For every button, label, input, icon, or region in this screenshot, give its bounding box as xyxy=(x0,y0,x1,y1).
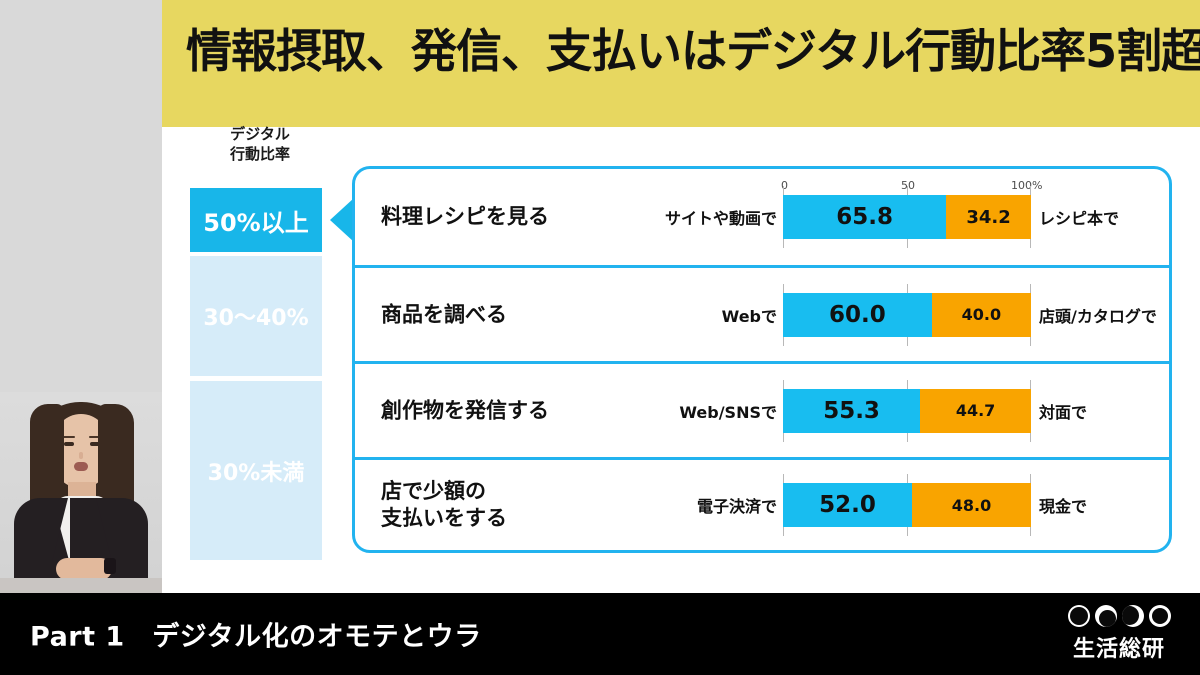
legend-block-50-and-above[interactable]: 50%以上 xyxy=(190,188,322,252)
bar-wrapper: 55.3 44.7 xyxy=(783,389,1031,433)
bar-segment-analog: 34.2 xyxy=(946,195,1031,239)
presenter-lapel-notch-left xyxy=(52,498,68,562)
presenter-desk xyxy=(0,578,162,593)
presenter-nose xyxy=(79,452,83,459)
presenter-mouth xyxy=(74,462,88,471)
page-title: 情報摂取、発信、支払いはデジタル行動比率5割超 xyxy=(186,28,1186,74)
row-left-caption: Webで xyxy=(722,303,777,327)
presenter-eye-left xyxy=(64,442,74,446)
bar-segment-digital: 65.8 xyxy=(783,195,946,239)
presenter-eyebrow-left xyxy=(63,436,75,438)
title-bar: 情報摂取、発信、支払いはデジタル行動比率5割超 xyxy=(162,0,1200,127)
table-row[interactable]: 創作物を発信する Web/SNSで 55.3 44.7 対面で xyxy=(355,361,1169,457)
bar-segment-digital: 52.0 xyxy=(783,483,912,527)
moon-phase-4-icon xyxy=(1149,605,1171,627)
row-category-label: 店で少額の 支払いをする xyxy=(381,478,507,532)
bar-segment-digital: 60.0 xyxy=(783,293,932,337)
moon-phase-1-icon xyxy=(1068,605,1090,627)
legend-header-line1: デジタル xyxy=(190,124,330,144)
presenter-video[interactable] xyxy=(0,392,162,593)
row-right-caption: 対面で xyxy=(1039,399,1087,423)
bar-wrapper: 60.0 40.0 xyxy=(783,293,1031,337)
row-left-caption: サイトや動画で xyxy=(665,205,777,229)
table-row[interactable]: 商品を調べる Webで 60.0 40.0 店頭/カタログで xyxy=(355,265,1169,361)
logo-text: 生活総研 xyxy=(1064,631,1174,663)
stacked-bar[interactable]: 60.0 40.0 xyxy=(783,293,1031,337)
row-right-caption: 店頭/カタログで xyxy=(1039,303,1157,327)
moon-phase-3-icon xyxy=(1122,605,1144,627)
presenter-watch xyxy=(104,558,116,574)
row-left-caption-wrap: サイトや動画で xyxy=(585,169,777,265)
presenter-lapel-notch-right xyxy=(96,498,112,562)
stacked-bar[interactable]: 52.0 48.0 xyxy=(783,483,1031,527)
row-right-caption: レシピ本で xyxy=(1039,205,1119,229)
footer-part-label: Part 1 デジタル化のオモテとウラ xyxy=(30,615,482,654)
table-row[interactable]: 料理レシピを見る サイトや動画で 0 50 100% 65.8 34.2 レシピ… xyxy=(355,169,1169,265)
bar-segment-digital: 55.3 xyxy=(783,389,920,433)
slide-canvas: 情報摂取、発信、支払いはデジタル行動比率5割超 デジタル 行動比率 50%以上 … xyxy=(0,0,1200,675)
row-category-label: 創作物を発信する xyxy=(381,397,549,424)
bar-segment-analog: 44.7 xyxy=(920,389,1031,433)
bar-wrapper: 65.8 34.2 xyxy=(783,195,1031,239)
legend-header-line2: 行動比率 xyxy=(190,144,330,164)
row-left-caption-wrap: 電子決済で xyxy=(585,460,777,550)
table-row[interactable]: 店で少額の 支払いをする 電子決済で 52.0 48.0 現金で xyxy=(355,457,1169,550)
logo-moon-phases xyxy=(1068,605,1172,629)
axis-tick-50: 50 xyxy=(901,179,915,192)
row-category-label: 商品を調べる xyxy=(381,301,507,328)
stacked-bar[interactable]: 55.3 44.7 xyxy=(783,389,1031,433)
row-left-caption: 電子決済で xyxy=(697,493,777,517)
chart-rows-container: 料理レシピを見る サイトや動画で 0 50 100% 65.8 34.2 レシピ… xyxy=(352,166,1172,553)
stacked-bar[interactable]: 65.8 34.2 xyxy=(783,195,1031,239)
legend-block-30-to-40[interactable]: 30〜40% xyxy=(190,256,322,376)
bar-segment-analog: 48.0 xyxy=(912,483,1031,527)
bar-wrapper: 52.0 48.0 xyxy=(783,483,1031,527)
legend-header: デジタル 行動比率 xyxy=(190,124,330,165)
moon-phase-2-icon xyxy=(1095,605,1117,627)
callout-arrow-icon xyxy=(330,198,354,242)
legend-block-under-30[interactable]: 30%未満 xyxy=(190,381,322,560)
row-category-label: 料理レシピを見る xyxy=(381,204,549,231)
axis-tick-100: 100% xyxy=(1011,179,1042,192)
row-right-caption: 現金で xyxy=(1039,493,1087,517)
bar-axis: 0 50 100% xyxy=(783,179,1033,193)
footer-bar: Part 1 デジタル化のオモテとウラ 生活総研 xyxy=(0,593,1200,675)
row-left-caption-wrap: Webで xyxy=(585,268,777,361)
bar-segment-analog: 40.0 xyxy=(932,293,1031,337)
logo: 生活総研 xyxy=(1060,603,1178,665)
row-left-caption: Web/SNSで xyxy=(679,399,777,423)
row-left-caption-wrap: Web/SNSで xyxy=(585,364,777,457)
